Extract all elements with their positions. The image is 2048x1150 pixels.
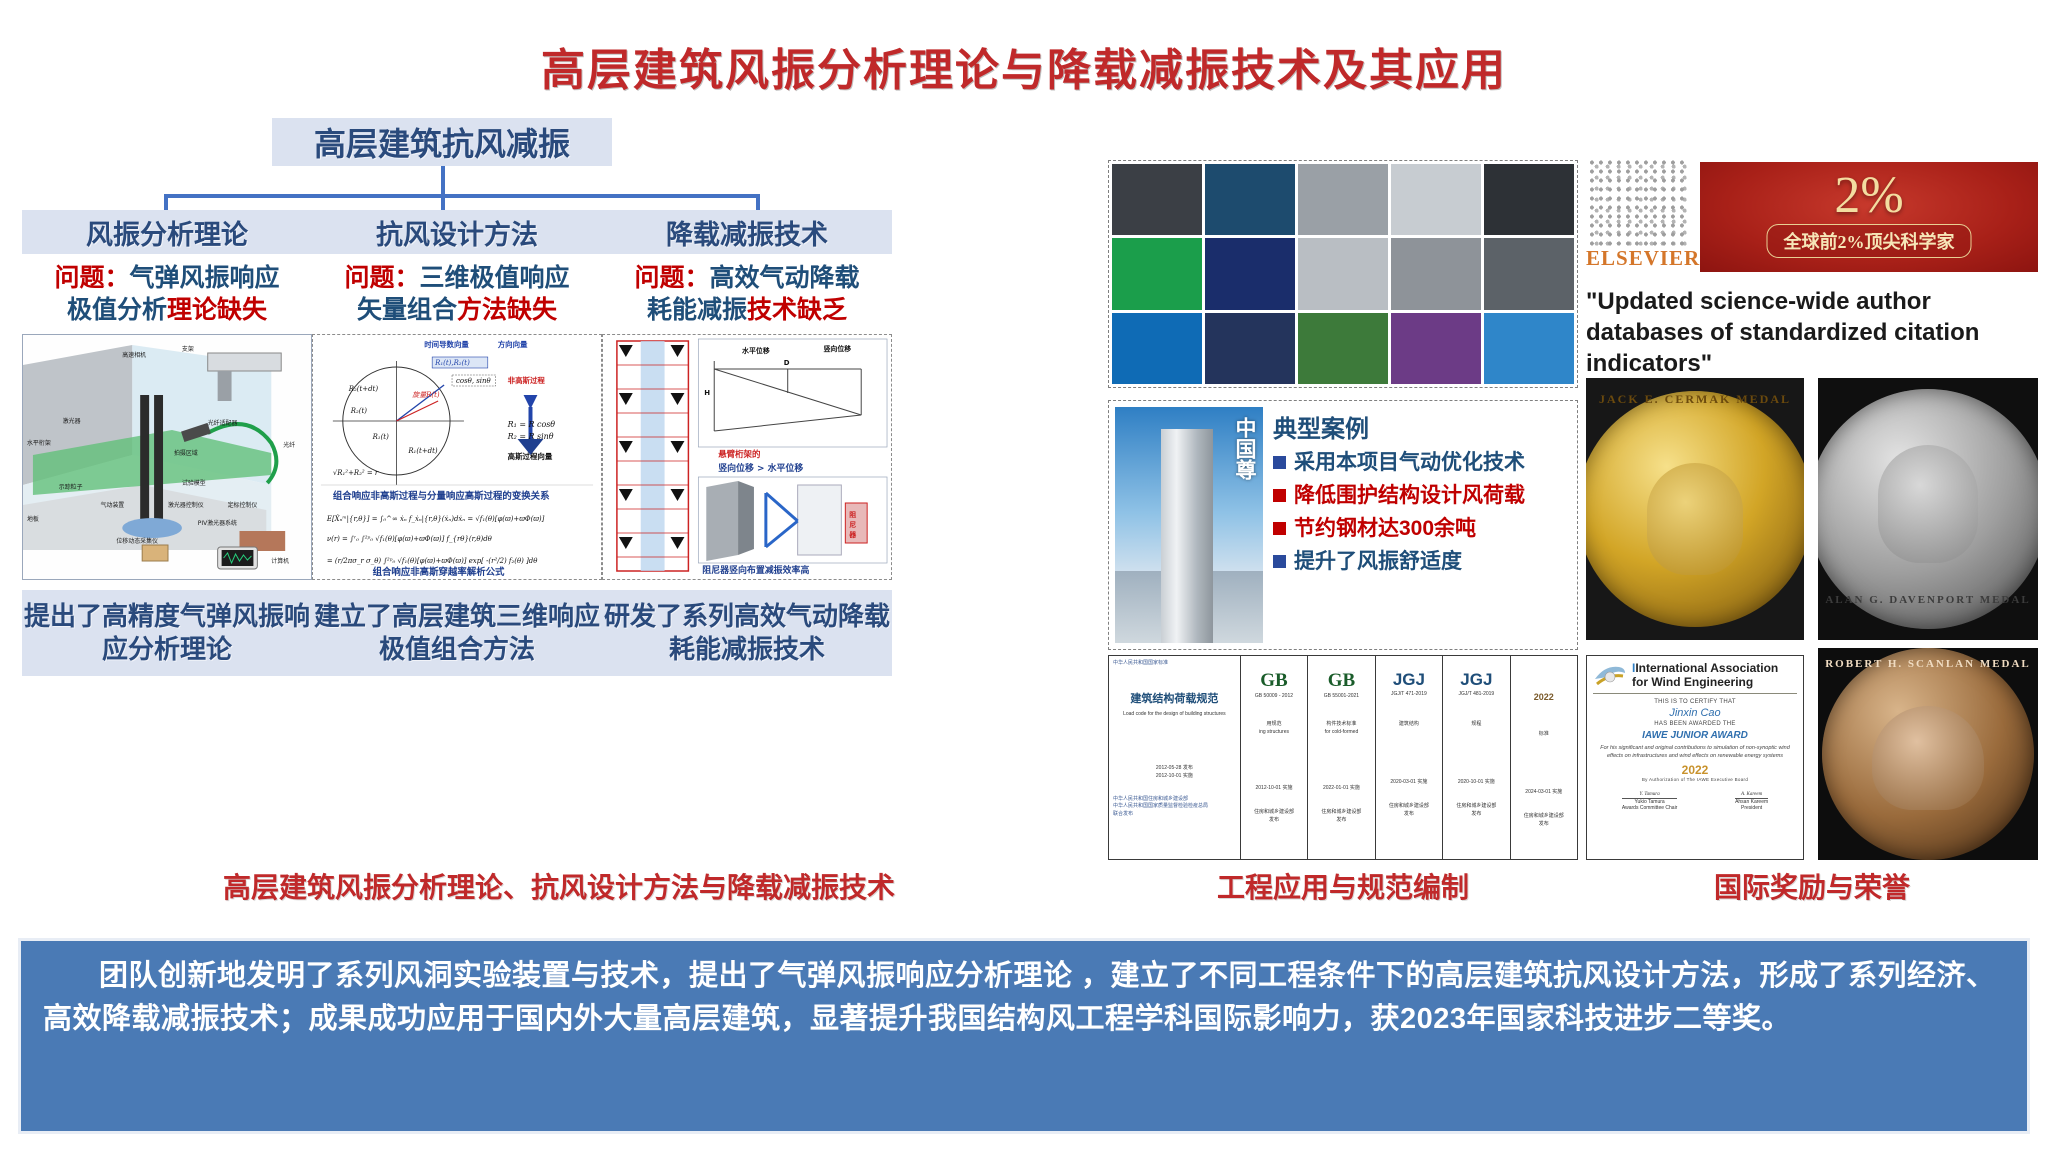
standard-org: 中华人民共和国国家标准	[1113, 660, 1236, 668]
awardee-name: Jinxin Cao	[1593, 707, 1797, 719]
svg-text:R₁(t+dt): R₁(t+dt)	[407, 447, 438, 455]
problem-l2a-2: 矢量组合	[357, 296, 457, 324]
standard-cover: JGJ JGJ/T 481-2019 规程 2020-10-01 实施 住房和城…	[1443, 656, 1510, 859]
certificate-header: IInternational Association for Wind Engi…	[1593, 662, 1797, 694]
svg-text:激光器控制仪: 激光器控制仪	[168, 501, 204, 509]
svg-text:定标控制仪: 定标控制仪	[228, 501, 258, 509]
awarded-line: HAS BEEN AWARDED THE	[1593, 721, 1797, 727]
photo-cell	[1112, 313, 1202, 384]
caption-honors: 国际奖励与荣誉	[1586, 866, 2038, 906]
problem-prefix-1: 问题：	[54, 264, 129, 292]
medal-name: ROBERT H. SCANLAN MEDAL	[1818, 658, 2038, 670]
figure-vector-combination: R₂(t+dt)R₂(t) R₁(t)R₁(t+dt) √R₁²+R₂² = r…	[312, 334, 602, 580]
medal-scanlan: ROBERT H. SCANLAN MEDAL	[1818, 648, 2038, 860]
diagram-column-design: 抗风设计方法 问题：三维极值响应 矢量组合方法缺失 R₂(t+dt)R₂(t) …	[312, 210, 602, 676]
svg-text:竖向位移: 竖向位移	[823, 344, 851, 353]
svg-text:尼: 尼	[849, 520, 856, 529]
problem-prefix-3: 问题：	[634, 264, 709, 292]
medal-cermak: JACK E. CERMAK MEDAL	[1586, 378, 1804, 640]
case-item: 降低围护结构设计风荷载	[1273, 484, 1571, 508]
conclusion-1: 提出了高精度气弹风振响应分析理论	[22, 590, 312, 676]
tower-label: 中国尊	[1229, 417, 1259, 480]
standard-title: 建筑结构	[1380, 720, 1438, 728]
photo-cell	[1112, 238, 1202, 309]
standard-issuer1: 住房和城乡建设部	[1245, 808, 1303, 816]
standard-title: 规程	[1447, 720, 1505, 728]
standard-title: 标准	[1515, 730, 1573, 738]
standard-cover: 中华人民共和国国家标准 建筑结构荷载规范 Load code for the d…	[1109, 656, 1241, 859]
case-title: 典型案例	[1273, 409, 1571, 444]
org-line2: for Wind Engineering	[1632, 676, 1778, 690]
case-item-text: 提升了风振舒适度	[1294, 550, 1462, 574]
column-head-3: 降载减振技术	[602, 210, 892, 254]
bullet-icon	[1273, 456, 1286, 469]
svg-text:阻: 阻	[849, 510, 856, 519]
standard-issuer1: 住房和城乡建设部	[1447, 802, 1505, 810]
conclusion-3: 研发了系列高效气动降载耗能减振技术	[602, 590, 892, 676]
top2-percent-banner: 2% 全球前2%顶尖科学家	[1700, 162, 2038, 272]
medal-portrait	[1647, 463, 1743, 575]
svg-text:试验模型: 试验模型	[182, 479, 206, 487]
connector-horizontal	[166, 194, 760, 198]
percent-value: 2%	[1700, 166, 2038, 225]
case-list: 典型案例 采用本项目气动优化技术 降低围护结构设计风荷载 节约钢材达300余吨 …	[1273, 407, 1571, 643]
figure-wind-tunnel-piv: 高速相机支架 光纤适配器光纤 激光器示踪粒子 拍摄区域试验模型 水平桁架地板 位…	[22, 334, 312, 580]
svg-text:= (r/2πσ_r σ_θ) ∫²ᵖ₀ √f₁(θ)[φ(: = (r/2πσ_r σ_θ) ∫²ᵖ₀ √f₁(θ)[φ(ϖ)+ϖΦ(ϖ)] …	[327, 557, 538, 565]
signature-block-2: A. Kareem Ahsan Kareem President	[1735, 792, 1768, 811]
elsevier-logo: ELSEVIER	[1586, 160, 1692, 272]
svg-text:ν(r) = ∫ʳ₀ ∫²ᵖ₀ √f₁(θ)[φ(ϖ)+ϖΦ: ν(r) = ∫ʳ₀ ∫²ᵖ₀ √f₁(θ)[φ(ϖ)+ϖΦ(ϖ)] f_{rθ…	[327, 535, 493, 543]
elsevier-honor-box: ELSEVIER 2% 全球前2%顶尖科学家 "Updated science-…	[1586, 160, 2038, 360]
svg-text:计算机: 计算机	[271, 557, 289, 565]
photo-cell	[1205, 238, 1295, 309]
svg-text:E[Ẋₙᵐ|{r,θ}] = ∫₀^∞ ẋₙ f_ẋₙ|{r: E[Ẋₙᵐ|{r,θ}] = ∫₀^∞ ẋₙ f_ẋₙ|{r,θ}(ẋₙ)dẋₙ…	[326, 514, 545, 523]
problem-l1-3: 高效气动降载	[710, 264, 860, 292]
svg-text:√R₁²+R₂² = r: √R₁²+R₂² = r	[333, 469, 379, 477]
diagram-root-node: 高层建筑抗风减振	[272, 118, 612, 166]
connector-vertical-root	[441, 166, 445, 196]
photo-cell	[1484, 238, 1574, 309]
application-photo-grid	[1108, 160, 1578, 388]
column-problem-1: 问题：气弹风振响应 极值分析理论缺失	[22, 262, 312, 326]
standard-code: JGJ	[1447, 670, 1505, 690]
signatures: Y. Tamura Yukio Tamura Awards Committee …	[1593, 792, 1797, 811]
svg-text:组合响应非高斯穿越率解析公式: 组合响应非高斯穿越率解析公式	[373, 566, 505, 578]
bullet-icon	[1273, 555, 1286, 568]
case-item-text: 采用本项目气动优化技术	[1294, 451, 1525, 475]
standard-date1: 2020-10-01 实施	[1447, 778, 1505, 786]
svg-text:非高斯过程: 非高斯过程	[508, 375, 546, 385]
problem-l1-2: 三维极值响应	[420, 264, 570, 292]
standard-issuer2: 发布	[1312, 816, 1370, 824]
photo-cell	[1391, 164, 1481, 235]
standard-title: 建筑结构荷载规范	[1113, 690, 1236, 706]
medal-name: ALAN G. DAVENPORT MEDAL	[1818, 594, 2038, 606]
standard-issuer1: 中华人民共和国住房和城乡建设部	[1113, 796, 1236, 804]
photo-cell	[1298, 313, 1388, 384]
photo-cell	[1391, 313, 1481, 384]
signature-2: A. Kareem	[1735, 792, 1768, 799]
medal-portrait	[1878, 445, 1978, 563]
problem-l2b-1: 理论缺失	[167, 296, 267, 324]
award-description: For his significant and original contrib…	[1593, 744, 1797, 761]
standard-sub: ing structures	[1245, 728, 1303, 736]
svg-text:阻尼器竖向布置减振效率高: 阻尼器竖向布置减振效率高	[702, 564, 809, 576]
elsevier-row: ELSEVIER 2% 全球前2%顶尖科学家	[1586, 160, 2038, 272]
standard-org: JGJ/T 471-2019	[1380, 690, 1438, 698]
column-head-1: 风振分析理论	[22, 210, 312, 254]
svg-text:支架: 支架	[182, 345, 194, 353]
svg-text:R₂ = R sinθ: R₂ = R sinθ	[507, 432, 554, 441]
problem-l2a-1: 极值分析	[67, 296, 167, 324]
standard-issuer2: 发布	[1245, 816, 1303, 824]
photo-cell	[1205, 164, 1295, 235]
svg-text:光纤: 光纤	[283, 441, 295, 449]
svg-text:H: H	[704, 389, 710, 397]
award-year: 2022	[1593, 763, 1797, 777]
standard-cover: 2022 标准 2024-03-01 实施 住房和城乡建设部 发布	[1511, 656, 1577, 859]
signer-2-role: President	[1735, 805, 1768, 811]
svg-text:器: 器	[848, 530, 857, 539]
svg-text:cosθ, sinθ: cosθ, sinθ	[456, 377, 491, 385]
certificate-body: THIS IS TO CERTIFY THAT Jinxin Cao HAS B…	[1593, 699, 1797, 812]
svg-text:水平位移: 水平位移	[742, 346, 770, 355]
case-item-text: 节约钢材达300余吨	[1294, 517, 1476, 541]
photo-cell	[1391, 238, 1481, 309]
photo-cell	[1298, 164, 1388, 235]
conclusion-2: 建立了高层建筑三维响应极值组合方法	[312, 590, 602, 676]
problem-l2b-2: 方法缺失	[457, 296, 557, 324]
svg-text:方向向量: 方向向量	[498, 339, 528, 349]
certificate-org: IInternational Association for Wind Engi…	[1632, 662, 1778, 690]
standard-org: GB 55001-2021	[1312, 692, 1370, 700]
standard-issuer3: 联合发布	[1113, 811, 1236, 819]
standard-date1: 2012-10-01 实施	[1245, 784, 1303, 792]
elsevier-quote: "Updated science-wide author databases o…	[1586, 286, 2038, 380]
standard-code: JGJ	[1380, 670, 1438, 690]
problem-prefix-2: 问题：	[344, 264, 419, 292]
standards-covers: 中华人民共和国国家标准 建筑结构荷载规范 Load code for the d…	[1108, 655, 1578, 860]
medal-davenport: ALAN G. DAVENPORT MEDAL	[1818, 378, 2038, 640]
caption-left: 高层建筑风振分析理论、抗风设计方法与降载减振技术	[14, 866, 1104, 906]
standard-cover: GB GB 55001-2021 构件技术标准 for cold-formed …	[1308, 656, 1375, 859]
case-item: 节约钢材达300余吨	[1273, 517, 1571, 541]
svg-text:示踪粒子: 示踪粒子	[59, 483, 83, 491]
diagram-column-damping: 降载减振技术 问题：高效气动降载 耗能减振技术缺乏	[602, 210, 892, 676]
standard-issuer2: 发布	[1380, 810, 1438, 818]
column-problem-2: 问题：三维极值响应 矢量组合方法缺失	[312, 262, 602, 326]
photo-cell	[1205, 313, 1295, 384]
problem-l2a-3: 耗能减振	[647, 296, 747, 324]
iawe-certificate: IInternational Association for Wind Engi…	[1586, 655, 1804, 860]
standard-cover: JGJ JGJ/T 471-2019 建筑结构 2020-03-01 实施 住房…	[1376, 656, 1443, 859]
standard-code: GB	[1312, 670, 1370, 692]
standard-title: 用规范	[1245, 720, 1303, 728]
page-title: 高层建筑风振分析理论与降载减振技术及其应用	[0, 34, 2048, 98]
svg-text:R₁(t): R₁(t)	[372, 433, 389, 441]
standard-issuer2: 发布	[1515, 820, 1573, 828]
certify-line: THIS IS TO CERTIFY THAT	[1593, 699, 1797, 705]
svg-text:时间导数向量: 时间导数向量	[424, 339, 469, 349]
svg-text:D: D	[784, 359, 790, 367]
signature-1: Y. Tamura	[1622, 792, 1677, 799]
elsevier-tree-icon	[1589, 160, 1689, 246]
percent-ribbon-label: 全球前2%顶尖科学家	[1767, 224, 1972, 258]
medal-portrait	[1872, 706, 1984, 810]
svg-text:激光器: 激光器	[63, 417, 81, 425]
standard-sub: for cold-formed	[1312, 728, 1370, 736]
svg-text:光纤适配器: 光纤适配器	[208, 419, 238, 427]
svg-text:悬臂桁架的: 悬臂桁架的	[717, 449, 761, 459]
photo-cell	[1112, 164, 1202, 235]
standard-cover: GB GB 50009 - 2012 用规范 ing structures 20…	[1241, 656, 1308, 859]
svg-text:位移动态采集仪: 位移动态采集仪	[116, 537, 158, 545]
iawe-bird-logo-icon	[1593, 663, 1627, 689]
photo-cell	[1484, 313, 1574, 384]
svg-text:竖向位移 > 水平位移: 竖向位移 > 水平位移	[718, 462, 803, 474]
medal-name: JACK E. CERMAK MEDAL	[1586, 392, 1804, 407]
standard-org: JGJ/T 481-2019	[1447, 690, 1505, 698]
standard-org: GB 50009 - 2012	[1245, 692, 1303, 700]
theory-diagram-panel: 高层建筑抗风减振 风振分析理论 问题：气弹风振响应 极值分析理论缺失	[14, 118, 1104, 908]
case-item: 提升了风振舒适度	[1273, 550, 1571, 574]
standard-title: 构件技术标准	[1312, 720, 1370, 728]
svg-text:R₂(t): R₂(t)	[350, 407, 367, 415]
svg-text:地板: 地板	[27, 515, 39, 523]
standard-code: GB	[1245, 670, 1303, 692]
tower-photo: 中国尊	[1115, 407, 1263, 643]
standard-issuer1: 住房和城乡建设部	[1312, 808, 1370, 816]
column-problem-3: 问题：高效气动降载 耗能减振技术缺乏	[602, 262, 892, 326]
standard-date1: 2024-03-01 实施	[1515, 788, 1573, 796]
standard-issuer2: 中华人民共和国国家质量监督检验检疫总局	[1113, 803, 1236, 811]
standard-date1: 2020-03-01 实施	[1380, 778, 1438, 786]
svg-text:水平桁架: 水平桁架	[27, 439, 51, 447]
svg-text:R₁ = R cosθ: R₁ = R cosθ	[507, 420, 556, 429]
standard-date1: 2022-01-01 实施	[1312, 784, 1370, 792]
problem-l1-1: 气弹风振响应	[130, 264, 280, 292]
photo-cell	[1298, 238, 1388, 309]
svg-text:组合响应非高斯过程与分量响应高斯过程的变换关系: 组合响应非高斯过程与分量响应高斯过程的变换关系	[333, 490, 550, 502]
svg-text:R₁(t),R₂(t): R₁(t),R₂(t)	[434, 359, 470, 367]
bullet-icon	[1273, 522, 1286, 535]
svg-text:PIV激光器系统: PIV激光器系统	[198, 519, 237, 527]
elsevier-wordmark: ELSEVIER	[1586, 246, 1692, 271]
tower-body	[1161, 429, 1213, 643]
svg-text:高速相机: 高速相机	[122, 351, 146, 359]
standard-issuer2: 发布	[1447, 810, 1505, 818]
standard-issuer1: 住房和城乡建设部	[1380, 802, 1438, 810]
typical-case-box: 中国尊 典型案例 采用本项目气动优化技术 降低围护结构设计风荷载 节约钢材达30…	[1108, 400, 1578, 650]
signer-1-role: Awards Committee Chair	[1622, 805, 1677, 811]
column-head-2: 抗风设计方法	[312, 210, 602, 254]
svg-text:拍摄区域: 拍摄区域	[174, 449, 198, 457]
bullet-icon	[1273, 489, 1286, 502]
org-line1-rest: International Association	[1635, 661, 1778, 675]
case-item-text: 降低围护结构设计风荷载	[1294, 484, 1525, 508]
signature-block-1: Y. Tamura Yukio Tamura Awards Committee …	[1622, 792, 1677, 811]
figure-damping-system: 水平位移竖向位移 DH 悬臂桁架的 竖向位移 > 水平位移 阻 尼 器 阻尼器竖…	[602, 334, 892, 580]
problem-l2b-3: 技术缺乏	[747, 296, 847, 324]
standard-org: 2022	[1515, 690, 1573, 704]
standard-date2: 2012-10-01 实施	[1113, 772, 1236, 780]
case-item: 采用本项目气动优化技术	[1273, 451, 1571, 475]
award-title: IAWE JUNIOR AWARD	[1593, 730, 1797, 741]
svg-text:R₂(t+dt): R₂(t+dt)	[348, 385, 379, 393]
award-authority: By Authorization of The IAWE Executive B…	[1593, 777, 1797, 782]
standard-issuer1: 住房和城乡建设部	[1515, 812, 1573, 820]
svg-text:气动装置: 气动装置	[100, 501, 124, 509]
summary-banner: 团队创新地发明了系列风洞实验装置与技术，提出了气弹风振响应分析理论 ，建立了不同…	[18, 938, 2030, 1134]
standard-date1: 2012-05-28 发布	[1113, 764, 1236, 772]
caption-engineering: 工程应用与规范编制	[1108, 866, 1578, 906]
svg-text:旋量R(t): 旋量R(t)	[412, 391, 440, 399]
standard-sub: Load code for the design of building str…	[1113, 710, 1236, 718]
photo-cell	[1484, 164, 1574, 235]
diagram-column-theory: 风振分析理论 问题：气弹风振响应 极值分析理论缺失	[22, 210, 312, 676]
